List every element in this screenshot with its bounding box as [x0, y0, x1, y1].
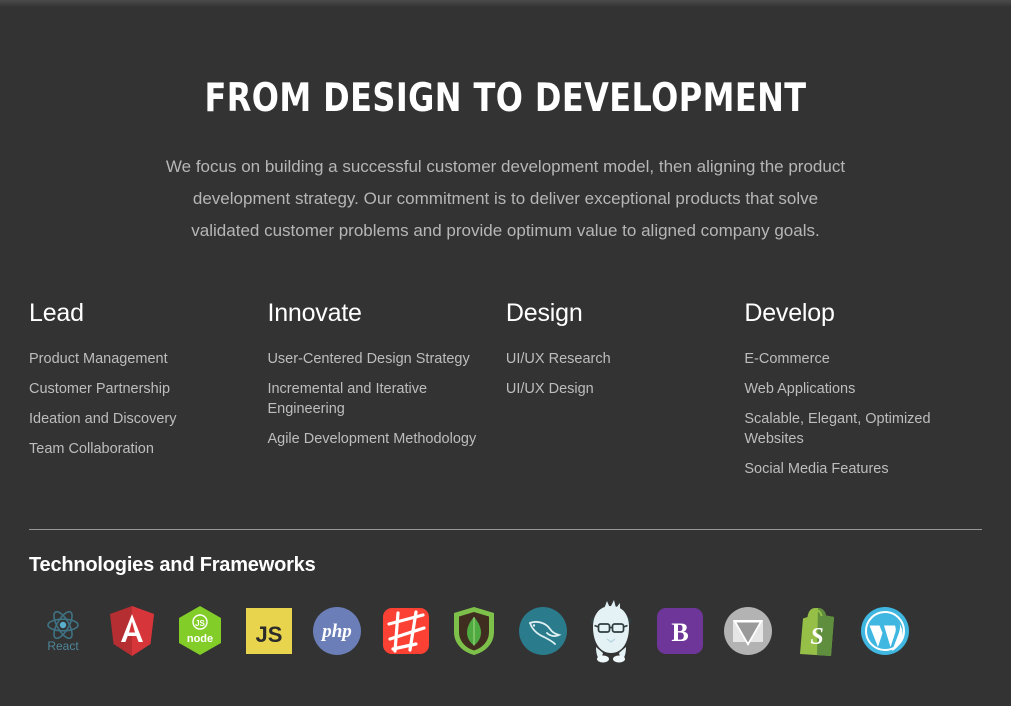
column-title-design: Design — [506, 301, 716, 326]
column-develop: Develop E-Commerce Web Applications Scal… — [744, 301, 982, 489]
technology-logo-row: React JS node — [29, 595, 982, 667]
section-divider — [29, 529, 982, 530]
list-item[interactable]: E-Commerce — [744, 349, 982, 369]
top-edge-strip — [0, 0, 1011, 7]
technologies-title: Technologies and Frameworks — [29, 554, 982, 577]
list-item[interactable]: Team Collaboration — [29, 439, 239, 459]
column-innovate: Innovate User-Centered Design Strategy I… — [267, 301, 505, 489]
mongodb-logo[interactable] — [440, 597, 509, 665]
column-lead: Lead Product Management Customer Partner… — [29, 301, 267, 489]
list-item[interactable]: Product Management — [29, 349, 239, 369]
angular-logo[interactable] — [98, 597, 167, 665]
list-item[interactable]: Agile Development Methodology — [267, 429, 477, 449]
page-content: From Design to Development We focus on b… — [0, 7, 1011, 706]
svg-text:JS: JS — [255, 622, 282, 647]
svg-text:php: php — [320, 621, 352, 642]
column-title-innovate: Innovate — [267, 301, 477, 326]
php-logo[interactable]: php — [303, 597, 372, 665]
wordpress-logo[interactable] — [851, 597, 920, 665]
technologies-section: Technologies and Frameworks React — [0, 554, 1011, 667]
service-columns: Lead Product Management Customer Partner… — [0, 301, 1011, 489]
list-item[interactable]: Social Media Features — [744, 459, 982, 479]
svg-text:node: node — [187, 633, 213, 645]
bootstrap-logo[interactable]: B — [646, 597, 715, 665]
column-title-lead: Lead — [29, 301, 239, 326]
hero-section: From Design to Development We focus on b… — [0, 7, 1011, 247]
list-item[interactable]: Scalable, Elegant, Optimized Websites — [744, 409, 982, 449]
svg-text:JS: JS — [195, 619, 205, 628]
react-logo[interactable]: React — [29, 597, 98, 665]
hero-paragraph: We focus on building a successful custom… — [166, 120, 846, 247]
column-design: Design UI/UX Research UI/UX Design — [506, 301, 744, 489]
list-item[interactable]: Ideation and Discovery — [29, 409, 239, 429]
rails-logo[interactable] — [372, 597, 441, 665]
nodejs-logo[interactable]: JS node — [166, 597, 235, 665]
yeti-mascot-logo[interactable] — [577, 597, 646, 665]
list-item[interactable]: User-Centered Design Strategy — [267, 349, 477, 369]
foundation-logo[interactable] — [714, 597, 783, 665]
mysql-logo[interactable] — [509, 597, 578, 665]
svg-text:S: S — [810, 624, 823, 650]
javascript-logo[interactable]: JS — [235, 597, 304, 665]
column-list-develop: E-Commerce Web Applications Scalable, El… — [744, 349, 982, 479]
shopify-logo[interactable]: S — [783, 597, 852, 665]
page-title: From Design to Development — [91, 79, 920, 120]
list-item[interactable]: Web Applications — [744, 379, 982, 399]
list-item[interactable]: Customer Partnership — [29, 379, 239, 399]
column-list-lead: Product Management Customer Partnership … — [29, 349, 239, 459]
svg-text:B: B — [671, 618, 688, 647]
column-title-develop: Develop — [744, 301, 982, 326]
list-item[interactable]: UI/UX Design — [506, 379, 716, 399]
column-list-innovate: User-Centered Design Strategy Incrementa… — [267, 349, 477, 449]
list-item[interactable]: UI/UX Research — [506, 349, 716, 369]
svg-text:React: React — [48, 639, 80, 653]
list-item[interactable]: Incremental and Iterative Engineering — [267, 379, 477, 419]
column-list-design: UI/UX Research UI/UX Design — [506, 349, 716, 399]
